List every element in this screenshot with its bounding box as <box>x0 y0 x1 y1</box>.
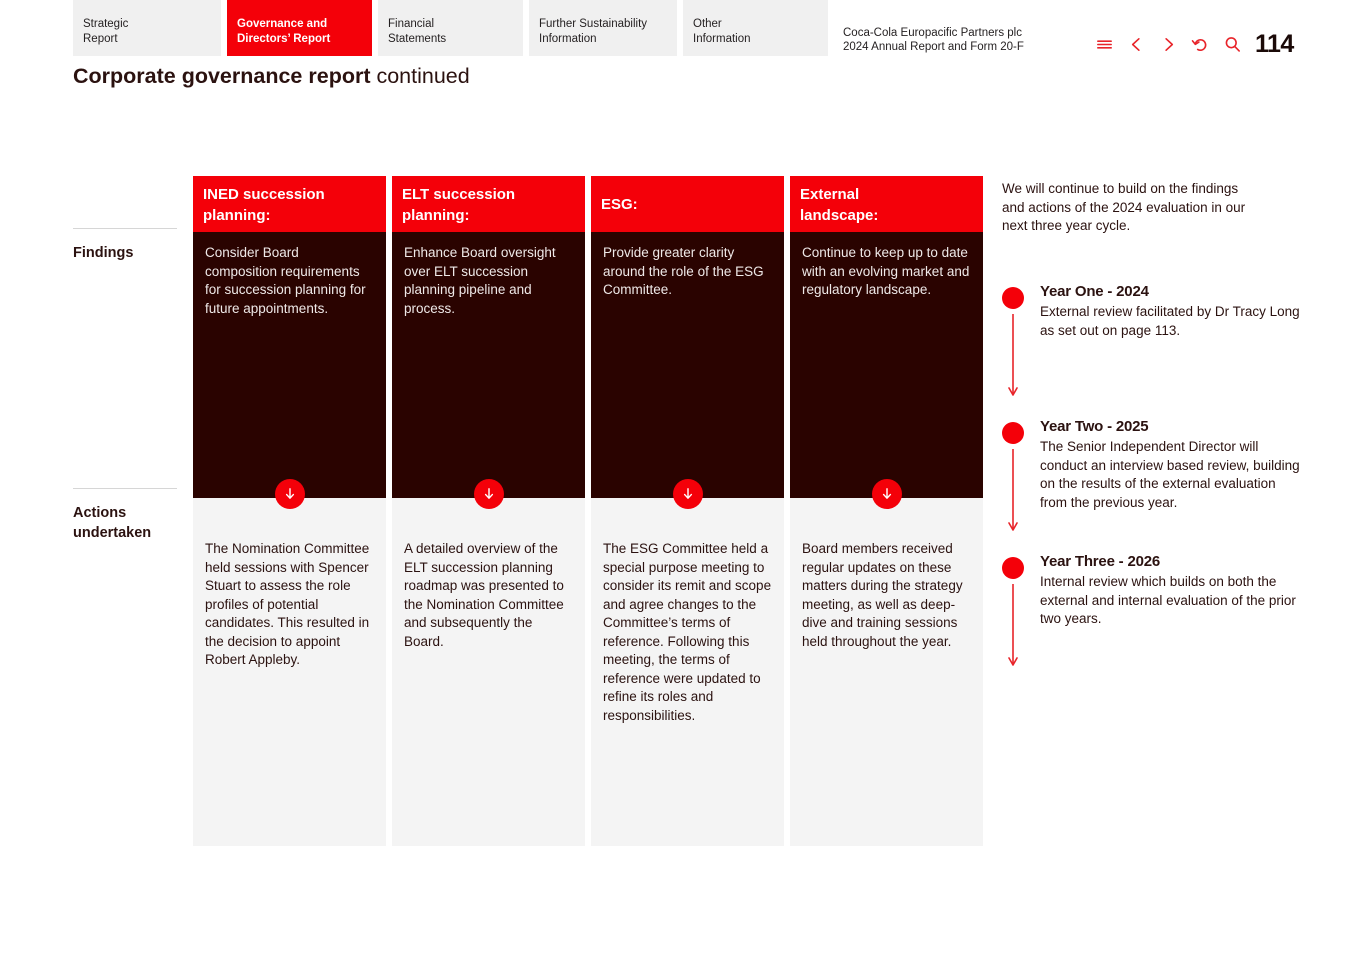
tab-financial-statements[interactable]: Financial Statements <box>378 0 523 56</box>
card-header: ELT succession planning: <box>392 176 585 232</box>
card-action-text: A detailed overview of the ELT successio… <box>392 498 585 846</box>
card-header: External landscape: <box>790 176 983 232</box>
page-number: 114 <box>1255 30 1294 59</box>
arrow-down-icon <box>474 479 504 509</box>
card-header-line1: ESG: <box>601 194 774 215</box>
timeline-description: External review facilitated by Dr Tracy … <box>1040 302 1302 340</box>
tab-label-line2: Report <box>83 32 211 47</box>
card-header-line1: External <box>800 184 973 205</box>
timeline-body: Year Three - 2026 Internal review which … <box>1040 552 1302 629</box>
tab-other-information[interactable]: Other Information <box>683 0 828 56</box>
timeline-connector <box>1007 584 1019 673</box>
card-header-line2: planning: <box>203 205 376 226</box>
card-header-line2: planning: <box>402 205 575 226</box>
arrow-down-icon <box>872 479 902 509</box>
timeline-year-label: Year Three - 2026 <box>1040 552 1302 572</box>
tab-label-line1: Governance and <box>237 17 362 32</box>
tab-strategic-report[interactable]: Strategic Report <box>73 0 221 56</box>
evaluation-card: ESG: Provide greater clarity around the … <box>591 176 784 846</box>
card-header-line2: landscape: <box>800 205 973 226</box>
report-title-line1: Coca-Cola Europacific Partners plc <box>843 26 1024 40</box>
card-finding-text: Enhance Board oversight over ELT success… <box>392 232 585 498</box>
evaluation-card: External landscape: Continue to keep up … <box>790 176 983 846</box>
timeline-connector <box>1007 314 1019 403</box>
tab-label-line1: Further Sustainability <box>539 17 667 32</box>
row-label-findings: Findings <box>73 228 177 263</box>
timeline-year-label: Year Two - 2025 <box>1040 417 1302 437</box>
page-title: Corporate governance report continued <box>73 64 470 89</box>
card-finding-text: Provide greater clarity around the role … <box>591 232 784 498</box>
tab-label-line2: Directors’ Report <box>237 32 362 47</box>
tab-further-sustainability-information[interactable]: Further Sustainability Information <box>529 0 677 56</box>
arrow-down-icon <box>673 479 703 509</box>
timeline-body: Year Two - 2025 The Senior Independent D… <box>1040 417 1302 512</box>
chevron-left-icon[interactable] <box>1127 35 1146 54</box>
report-title-line2: 2024 Annual Report and Form 20-F <box>843 40 1024 54</box>
undo-icon[interactable] <box>1191 35 1210 54</box>
side-intro-text: We will continue to build on the finding… <box>1002 180 1260 236</box>
tab-label-line2: Statements <box>388 32 513 47</box>
tab-label-line2: Information <box>693 32 818 47</box>
card-header-line1: INED succession <box>203 184 376 205</box>
card-action-text: The ESG Committee held a special purpose… <box>591 498 784 846</box>
row-label-actions-undertaken: Actions undertaken <box>73 488 177 543</box>
evaluation-card: INED succession planning: Consider Board… <box>193 176 386 846</box>
search-icon[interactable] <box>1223 35 1242 54</box>
card-header: ESG: <box>591 176 784 232</box>
tab-label-line1: Strategic <box>83 17 211 32</box>
top-navigation-bar: Strategic Report Governance and Director… <box>0 0 1365 56</box>
timeline-dot-icon <box>1002 287 1024 309</box>
evaluation-card: ELT succession planning: Enhance Board o… <box>392 176 585 846</box>
timeline-body: Year One - 2024 External review facilita… <box>1040 282 1302 340</box>
tab-label-line1: Financial <box>388 17 513 32</box>
tab-label-line2: Information <box>539 32 667 47</box>
navigation-icon-group <box>1095 35 1242 54</box>
timeline-dot-icon <box>1002 422 1024 444</box>
page-title-main: Corporate governance report <box>73 64 370 88</box>
card-finding-text: Consider Board composition requirements … <box>193 232 386 498</box>
menu-icon[interactable] <box>1095 35 1114 54</box>
page-title-continued: continued <box>370 64 469 88</box>
card-action-text: Board members received regular updates o… <box>790 498 983 846</box>
timeline-dot-icon <box>1002 557 1024 579</box>
timeline-description: The Senior Independent Director will con… <box>1040 437 1302 512</box>
tab-label-line1: Other <box>693 17 818 32</box>
chevron-right-icon[interactable] <box>1159 35 1178 54</box>
card-header: INED succession planning: <box>193 176 386 232</box>
card-header-line1: ELT succession <box>402 184 575 205</box>
card-finding-text: Continue to keep up to date with an evol… <box>790 232 983 498</box>
report-title: Coca-Cola Europacific Partners plc 2024 … <box>843 26 1024 54</box>
arrow-down-icon <box>275 479 305 509</box>
timeline-year-label: Year One - 2024 <box>1040 282 1302 302</box>
timeline-connector <box>1007 449 1019 538</box>
timeline-description: Internal review which builds on both the… <box>1040 572 1302 629</box>
card-action-text: The Nomination Committee held sessions w… <box>193 498 386 846</box>
tab-governance-and-directors-report[interactable]: Governance and Directors’ Report <box>227 0 372 56</box>
